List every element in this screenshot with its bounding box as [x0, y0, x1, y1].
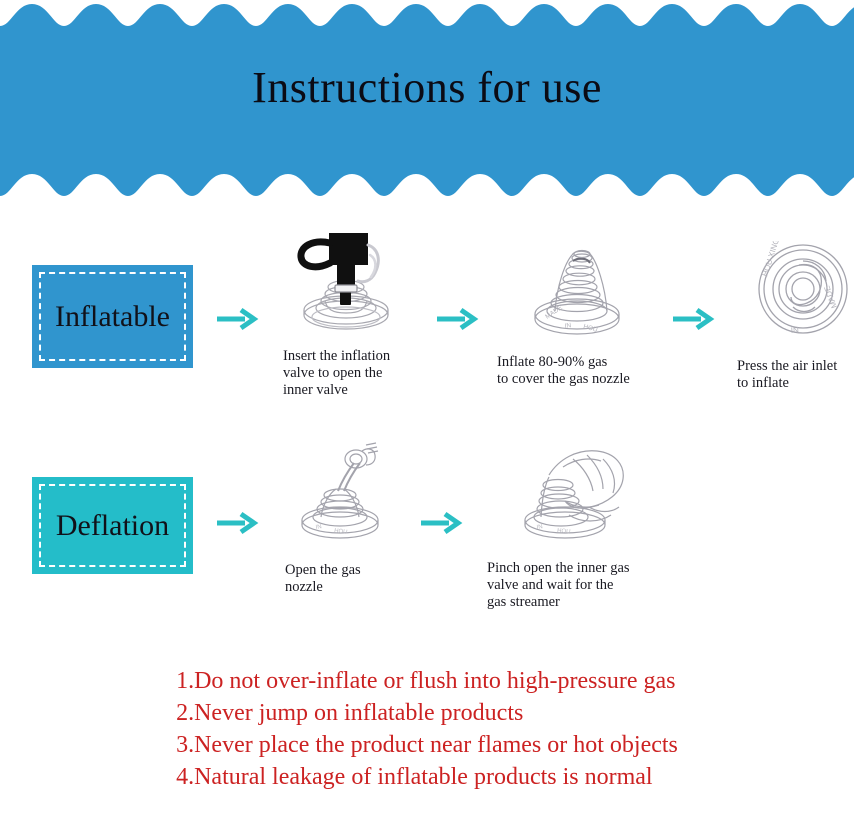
inflatable-step-3: HOU XING IN MADE Press the air inlet to …	[737, 241, 854, 392]
header-banner: Instructions for use	[0, 0, 854, 200]
inflatable-step-3-caption: Press the air inlet to inflate	[737, 358, 837, 392]
svg-text:HOU: HOU	[582, 323, 598, 334]
pump-nozzle-in-valve-icon	[282, 225, 410, 340]
inflated-cone-valve-icon: MADE IN HOU	[513, 239, 641, 344]
inflatable-step-2-caption: Inflate 80-90% gas to cover the gas nozz…	[497, 354, 630, 388]
svg-text:MADE: MADE	[823, 285, 839, 310]
arrow-right-icon	[671, 305, 715, 333]
deflation-flow-row: Deflation	[0, 437, 854, 617]
deflation-step-1: IN HOU Open the gas nozzle	[277, 437, 407, 596]
svg-text:IN: IN	[791, 325, 800, 335]
svg-text:IN: IN	[564, 322, 572, 330]
arrow-right-icon	[435, 305, 479, 333]
inflatable-label-box: Inflatable	[32, 265, 193, 368]
inflatable-step-2: MADE IN HOU Inflate 80-90% gas to cover …	[497, 239, 657, 388]
warning-line: 2.Never jump on inflatable products	[176, 698, 678, 730]
inflatable-label-text: Inflatable	[55, 302, 170, 332]
valve-top-view-icon: HOU XING IN MADE	[747, 241, 854, 346]
inflatable-flow-row: Inflatable	[0, 225, 854, 405]
valve-stamp-text: MADE IN HOU	[544, 304, 598, 334]
svg-text:HOU: HOU	[334, 528, 348, 536]
deflation-label-box: Deflation	[32, 477, 193, 574]
open-gas-nozzle-icon: IN HOU	[282, 437, 402, 552]
warning-line: 3.Never place the product near flames or…	[176, 730, 678, 762]
deflation-step-2: IN HOU Pinch open the inner gas valve an…	[485, 437, 670, 611]
deflation-step-1-caption: Open the gas nozzle	[285, 562, 361, 596]
hand-pinch-valve-icon: IN HOU	[503, 437, 653, 552]
svg-text:IN: IN	[315, 524, 322, 531]
svg-text:HOU: HOU	[556, 528, 570, 535]
arrow-right-icon	[215, 305, 259, 333]
warning-line: 4.Natural leakage of inflatable products…	[176, 762, 678, 794]
page-title: Instructions for use	[0, 62, 854, 113]
inflatable-step-1: Insert the inflation valve to open the i…	[271, 225, 421, 399]
deflation-step-2-caption: Pinch open the inner gas valve and wait …	[487, 560, 630, 611]
deflation-label-text: Deflation	[56, 511, 169, 541]
warning-line: 1.Do not over-inflate or flush into high…	[176, 666, 678, 698]
arrow-right-icon	[419, 509, 463, 537]
arrow-right-icon	[215, 509, 259, 537]
inflatable-step-1-caption: Insert the inflation valve to open the i…	[283, 348, 390, 399]
warnings-list: 1.Do not over-inflate or flush into high…	[0, 666, 854, 794]
svg-text:IN: IN	[536, 524, 543, 531]
